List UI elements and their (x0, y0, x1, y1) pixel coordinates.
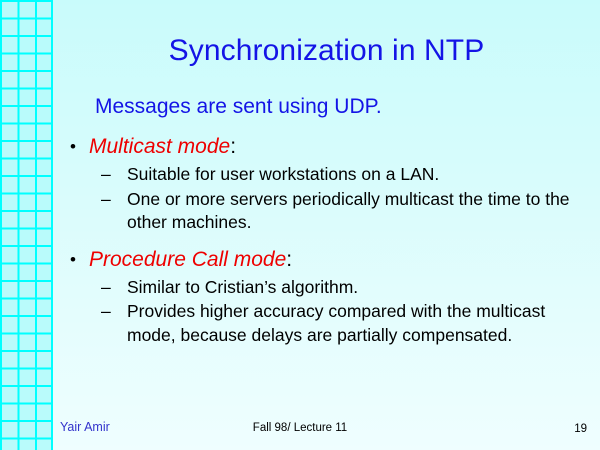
slide-subtitle: Messages are sent using UDP. (95, 95, 382, 119)
footer-author: Yair Amir (60, 420, 110, 434)
bullet-dot-icon: • (70, 134, 76, 160)
sub-bullet-text: One or more servers periodically multica… (127, 189, 570, 233)
dash-marker-icon: – (101, 163, 111, 187)
dash-marker-icon: – (101, 276, 111, 300)
slide-body: • Multicast mode: – Suitable for user wo… (66, 134, 586, 348)
sub-bullet-list-multicast: – Suitable for user workstations on a LA… (66, 163, 586, 235)
sub-bullet-list-procedure-call: – Similar to Cristian’s algorithm. – Pro… (66, 276, 586, 348)
slide-title: Synchronization in NTP (53, 34, 600, 68)
bullet-emphasis-text: Procedure Call mode (89, 248, 286, 271)
dash-marker-icon: – (101, 188, 111, 212)
sub-bullet-text: Provides higher accuracy compared with t… (127, 301, 545, 345)
sub-bullet-text: Suitable for user workstations on a LAN. (127, 164, 439, 184)
bullet-item-multicast-mode: • Multicast mode: (66, 134, 586, 160)
sub-bullet-text: Similar to Cristian’s algorithm. (127, 277, 358, 297)
section-spacer (66, 236, 586, 247)
bullet-item-procedure-call-mode: • Procedure Call mode: (66, 247, 586, 273)
dash-marker-icon: – (101, 300, 111, 324)
sub-bullet-item: – One or more servers periodically multi… (66, 188, 586, 235)
left-grid-decoration (0, 0, 53, 450)
bullet-emphasis-text: Multicast mode (89, 135, 230, 158)
bullet-dot-icon: • (70, 247, 76, 273)
footer-page-number: 19 (574, 423, 587, 435)
sub-bullet-item: – Provides higher accuracy compared with… (66, 300, 586, 347)
sub-bullet-item: – Suitable for user workstations on a LA… (66, 163, 586, 187)
bullet-tail-text: : (286, 248, 292, 271)
bullet-tail-text: : (230, 135, 236, 158)
sub-bullet-item: – Similar to Cristian’s algorithm. (66, 276, 586, 300)
slide-canvas: Synchronization in NTP Messages are sent… (0, 0, 600, 450)
